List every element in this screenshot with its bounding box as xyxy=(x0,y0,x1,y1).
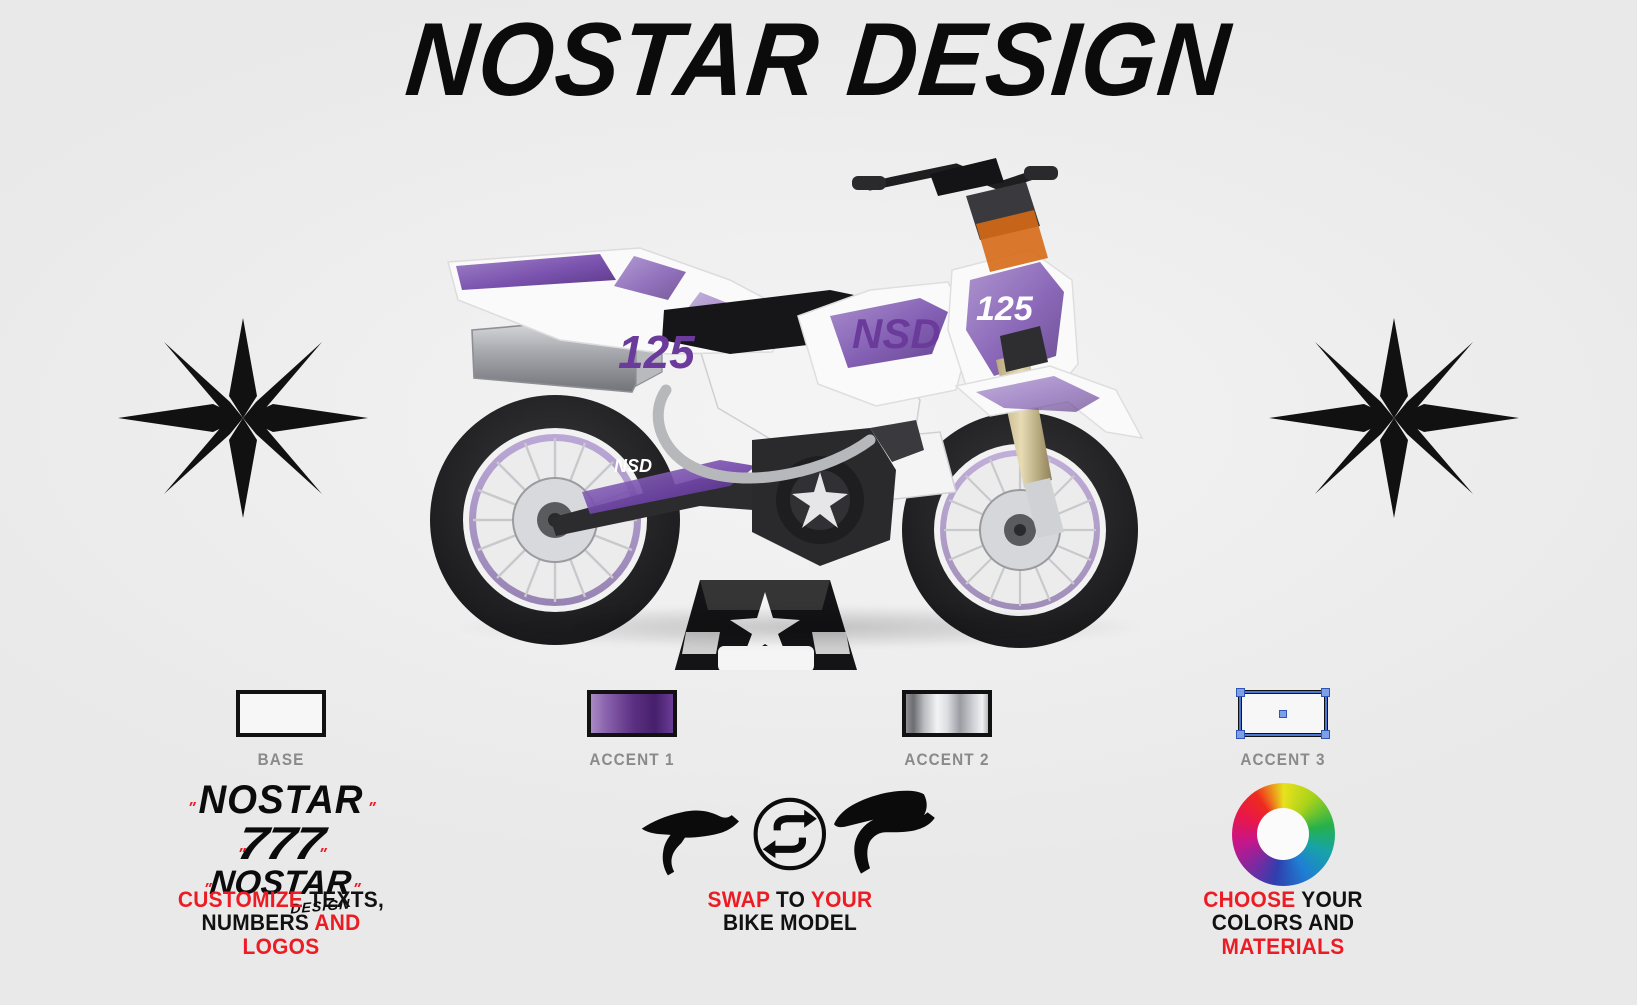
caption-word-to: TO xyxy=(770,887,811,912)
compass-star-left-icon xyxy=(118,318,368,523)
text-sample-row-2: "777" xyxy=(131,820,431,866)
quote-left-1: " xyxy=(186,801,197,817)
swap-illustration-row xyxy=(640,780,940,888)
swatch-label-base: BASE xyxy=(146,750,416,770)
swatch-accent1[interactable] xyxy=(587,690,677,737)
resize-handle-bottom-left[interactable] xyxy=(1236,730,1245,739)
caption-colors-line-2: COLORS AND xyxy=(1141,911,1426,934)
caption-word-bike-model: BIKE MODEL xyxy=(723,910,857,935)
swatch-cell-accent3[interactable]: ACCENT 3 xyxy=(1133,690,1433,770)
caption-word-customize: CUSTOMIZE xyxy=(178,887,303,912)
text-sample-row-1: "NOSTAR" xyxy=(131,780,431,820)
caption-word-your: YOUR xyxy=(811,887,873,912)
compass-star-right-icon xyxy=(1269,318,1519,523)
swatch-row: BASE ACCENT 1 ACCENT 2 ACCENT 3 xyxy=(0,690,1637,780)
swatch-label-accent2: ACCENT 2 xyxy=(812,750,1082,770)
bike-number-text: 125 xyxy=(618,326,696,378)
bike-number-plate-text: 125 xyxy=(976,290,1034,328)
bike-hero-image: 125 NSD 125 NSD xyxy=(400,140,1200,670)
color-wheel-wrap xyxy=(1133,780,1433,888)
feature-customize-text: "NOSTAR" "777" "NOSTARDESIGN" CUSTOMIZE … xyxy=(131,780,431,958)
selection-frame xyxy=(1239,691,1327,736)
text-sample-777: 777 xyxy=(235,820,327,866)
resize-handle-bottom-right[interactable] xyxy=(1321,730,1330,739)
feature-choose-colors: CHOOSE YOUR COLORS AND MATERIALS xyxy=(1133,780,1433,958)
caption-word-texts: TEXTS, xyxy=(303,887,384,912)
caption-colors-line-3: MATERIALS xyxy=(1141,935,1426,958)
swatch-base[interactable] xyxy=(236,690,326,737)
text-style-samples: "NOSTAR" "777" "NOSTARDESIGN" xyxy=(131,780,431,888)
swatch-cell-accent1[interactable]: ACCENT 1 xyxy=(482,690,782,770)
caption-choose-colors: CHOOSE YOUR COLORS AND MATERIALS xyxy=(1141,888,1426,958)
bike-front-fender-silhouette-icon xyxy=(640,786,746,882)
bike-shadow xyxy=(460,606,1140,648)
color-wheel-icon[interactable] xyxy=(1232,783,1335,886)
swatch-label-accent1: ACCENT 1 xyxy=(497,750,767,770)
resize-handle-top-right[interactable] xyxy=(1321,688,1330,697)
caption-line-2: NUMBERS AND xyxy=(139,911,424,934)
caption-word-logos: LOGOS xyxy=(243,934,320,959)
caption-swap-line-2: BIKE MODEL xyxy=(648,911,933,934)
caption-customize-text: CUSTOMIZE TEXTS, NUMBERS AND LOGOS xyxy=(139,888,424,958)
caption-word-materials: MATERIALS xyxy=(1222,934,1345,959)
caption-colors-line-1: CHOOSE YOUR xyxy=(1141,888,1426,911)
swatch-accent2[interactable] xyxy=(902,690,992,737)
swingarm-brand-text: NSD xyxy=(614,456,652,476)
center-handle[interactable] xyxy=(1279,710,1287,718)
bike-brand-shroud-text: NSD xyxy=(852,310,941,357)
swatch-label-accent3: ACCENT 3 xyxy=(1148,750,1418,770)
resize-handle-top-left[interactable] xyxy=(1236,688,1245,697)
swatch-accent3[interactable] xyxy=(1238,690,1328,737)
feature-swap-bike-model: SWAP TO YOUR BIKE MODEL xyxy=(640,780,940,935)
caption-word-your-2: YOUR xyxy=(1296,887,1363,912)
bike-shroud-silhouette-icon xyxy=(834,786,940,882)
caption-line-1: CUSTOMIZE TEXTS, xyxy=(139,888,424,911)
swatch-cell-base[interactable]: BASE xyxy=(131,690,431,770)
caption-word-colors-and: COLORS AND xyxy=(1212,910,1355,935)
quote-right-1: " xyxy=(365,801,376,817)
caption-word-swap: SWAP xyxy=(708,887,770,912)
caption-word-choose: CHOOSE xyxy=(1203,887,1295,912)
swatch-cell-accent2[interactable]: ACCENT 2 xyxy=(797,690,1097,770)
text-sample-nostar: NOSTAR xyxy=(198,780,363,820)
page-title: NOSTAR DESIGN xyxy=(52,6,1585,115)
caption-swap-bike-model: SWAP TO YOUR BIKE MODEL xyxy=(648,888,933,935)
caption-word-and: AND xyxy=(314,910,360,935)
swap-arrows-icon[interactable] xyxy=(752,792,828,876)
caption-line-3: LOGOS xyxy=(139,935,424,958)
caption-swap-line-1: SWAP TO YOUR xyxy=(648,888,933,911)
caption-word-numbers: NUMBERS xyxy=(201,910,314,935)
